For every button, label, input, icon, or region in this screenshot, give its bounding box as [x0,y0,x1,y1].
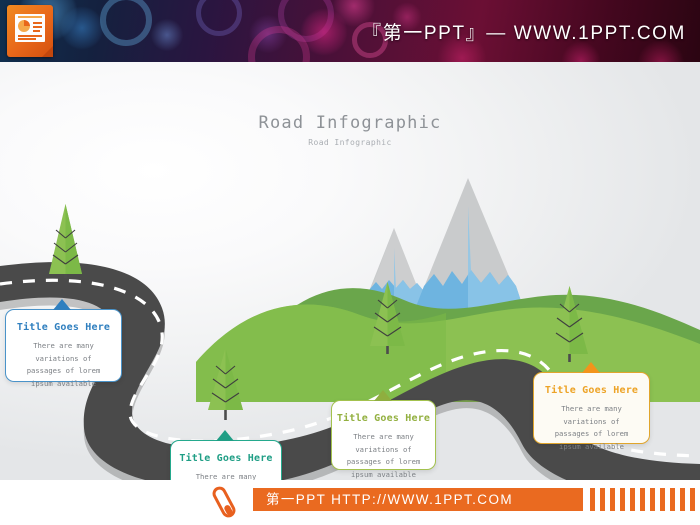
callout-2-body: There are many variations of passages of… [171,471,281,480]
slide-canvas: 『第一PPT』— WWW.1PPT.COM Road Infographic R… [0,0,700,525]
callout-1-title: Title Goes Here [6,322,121,333]
bokeh-circle [150,18,184,52]
callout-4[interactable]: Title Goes Here There are many variation… [533,372,650,444]
callout-2-box[interactable]: Title Goes Here There are many variation… [170,440,282,480]
callout-2-title: Title Goes Here [171,453,281,464]
callout-3-pointer-icon [374,390,392,401]
footer-bar: 第一PPT HTTP://WWW.1PPT.COM [0,480,700,525]
bokeh-circle [100,0,152,46]
top-banner: 『第一PPT』— WWW.1PPT.COM [0,0,700,62]
callout-3-body: There are many variations of passages of… [332,431,435,480]
callout-1-pointer-icon [53,299,71,310]
slide-body: Road Infographic Road Infographic [0,62,700,480]
site-title: 『第一PPT』— WWW.1PPT.COM [362,18,686,45]
callout-4-body: There are many variations of passages of… [534,403,649,453]
callout-2[interactable]: Title Goes Here There are many variation… [170,440,282,480]
callout-4-title: Title Goes Here [534,385,649,396]
tree [49,204,82,278]
callout-3-title: Title Goes Here [332,413,435,424]
callout-2-pointer-icon [216,430,234,441]
footer-text: 第一PPT HTTP://WWW.1PPT.COM [253,488,583,511]
callout-1[interactable]: Title Goes Here There are many variation… [5,309,122,382]
footer-stripes [590,488,700,511]
bokeh-circle [196,0,242,36]
callout-4-pointer-icon [582,362,600,373]
paperclip-icon [210,485,238,519]
callout-3[interactable]: Title Goes Here There are many variation… [331,400,436,470]
bokeh-circle [60,6,104,50]
callout-1-body: There are many variations of passages of… [6,340,121,390]
callout-4-box[interactable]: Title Goes Here There are many variation… [533,372,650,444]
powerpoint-icon [7,5,53,57]
callout-3-box[interactable]: Title Goes Here There are many variation… [331,400,436,470]
powerpoint-icon-doc [15,14,45,42]
callout-1-box[interactable]: Title Goes Here There are many variation… [5,309,122,382]
